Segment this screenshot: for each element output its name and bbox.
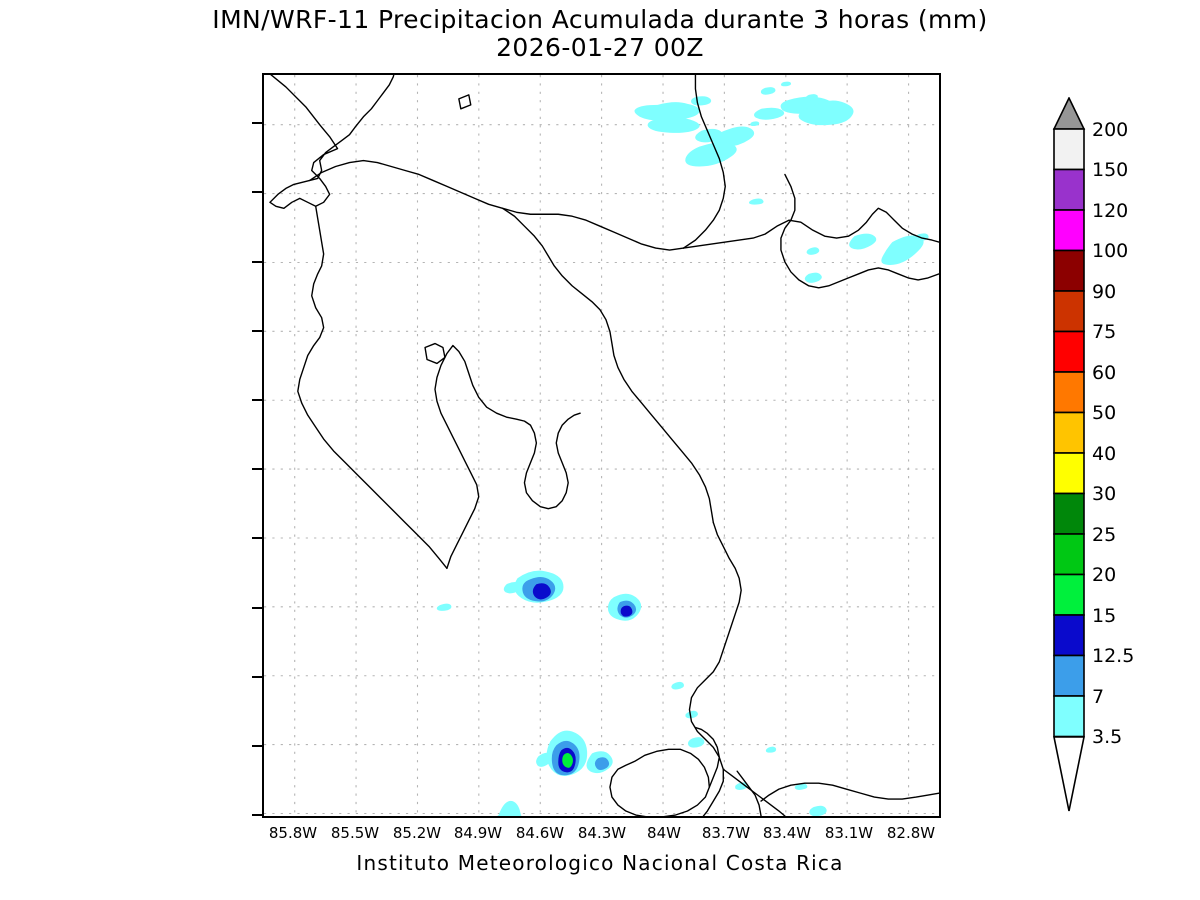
- x-axis-label-5: 84.3W: [578, 824, 626, 842]
- x-axis-label-4: 84.6W: [516, 824, 564, 842]
- precip-cells-pacific: [437, 571, 827, 816]
- precipitation-map: [264, 75, 939, 816]
- colorbar-label-30: 30: [1092, 483, 1116, 505]
- y-axis-tick: [252, 122, 263, 124]
- y-axis-tick: [252, 607, 263, 609]
- y-axis-tick: [252, 261, 263, 263]
- weather-map-page: IMN/WRF-11 Precipitacion Acumulada duran…: [0, 0, 1200, 900]
- y-axis-tick: [252, 814, 263, 816]
- colorbar[interactable]: [1052, 97, 1086, 813]
- x-axis-label-0: 85.8W: [269, 824, 317, 842]
- x-axis-label-10: 82.8W: [887, 824, 935, 842]
- y-axis-tick: [252, 330, 263, 332]
- colorbar-label-50: 50: [1092, 402, 1116, 424]
- colorbar-label-7: 7: [1092, 686, 1104, 708]
- y-axis-tick: [252, 191, 263, 193]
- colorbar-swatches: [1052, 97, 1086, 813]
- colorbar-label-3p5: 3.5: [1092, 726, 1122, 748]
- x-axis-label-7: 83.7W: [702, 824, 750, 842]
- chart-title-block: IMN/WRF-11 Precipitacion Acumulada duran…: [0, 6, 1200, 62]
- y-axis-tick: [252, 745, 263, 747]
- colorbar-label-90: 90: [1092, 281, 1116, 303]
- coastline: [264, 75, 939, 816]
- colorbar-label-200: 200: [1092, 119, 1128, 141]
- y-axis-tick: [252, 537, 263, 539]
- precipitation-contours: [437, 82, 929, 816]
- footer-credit: Instituto Meteorologico Nacional Costa R…: [0, 851, 1200, 875]
- chart-subtitle: 2026-01-27 00Z: [0, 34, 1200, 62]
- colorbar-label-60: 60: [1092, 362, 1116, 384]
- x-axis-label-1: 85.5W: [331, 824, 379, 842]
- colorbar-label-120: 120: [1092, 200, 1128, 222]
- colorbar-label-40: 40: [1092, 443, 1116, 465]
- colorbar-label-100: 100: [1092, 240, 1128, 262]
- colorbar-label-150: 150: [1092, 159, 1128, 181]
- colorbar-label-12p5: 12.5: [1092, 645, 1134, 667]
- page-title: IMN/WRF-11 Precipitacion Acumulada duran…: [0, 6, 1200, 34]
- x-axis-label-6: 84W: [647, 824, 681, 842]
- colorbar-label-75: 75: [1092, 321, 1116, 343]
- y-axis-tick: [252, 468, 263, 470]
- x-axis-label-2: 85.2W: [393, 824, 441, 842]
- colorbar-label-20: 20: [1092, 564, 1116, 586]
- x-axis-label-8: 83.4W: [763, 824, 811, 842]
- x-axis-label-9: 83.1W: [825, 824, 873, 842]
- colorbar-label-15: 15: [1092, 605, 1116, 627]
- map-plot-area[interactable]: [262, 73, 941, 818]
- y-axis-tick: [252, 676, 263, 678]
- x-axis-label-3: 84.9W: [454, 824, 502, 842]
- y-axis-tick: [252, 399, 263, 401]
- map-gridlines: [264, 75, 939, 816]
- colorbar-label-25: 25: [1092, 524, 1116, 546]
